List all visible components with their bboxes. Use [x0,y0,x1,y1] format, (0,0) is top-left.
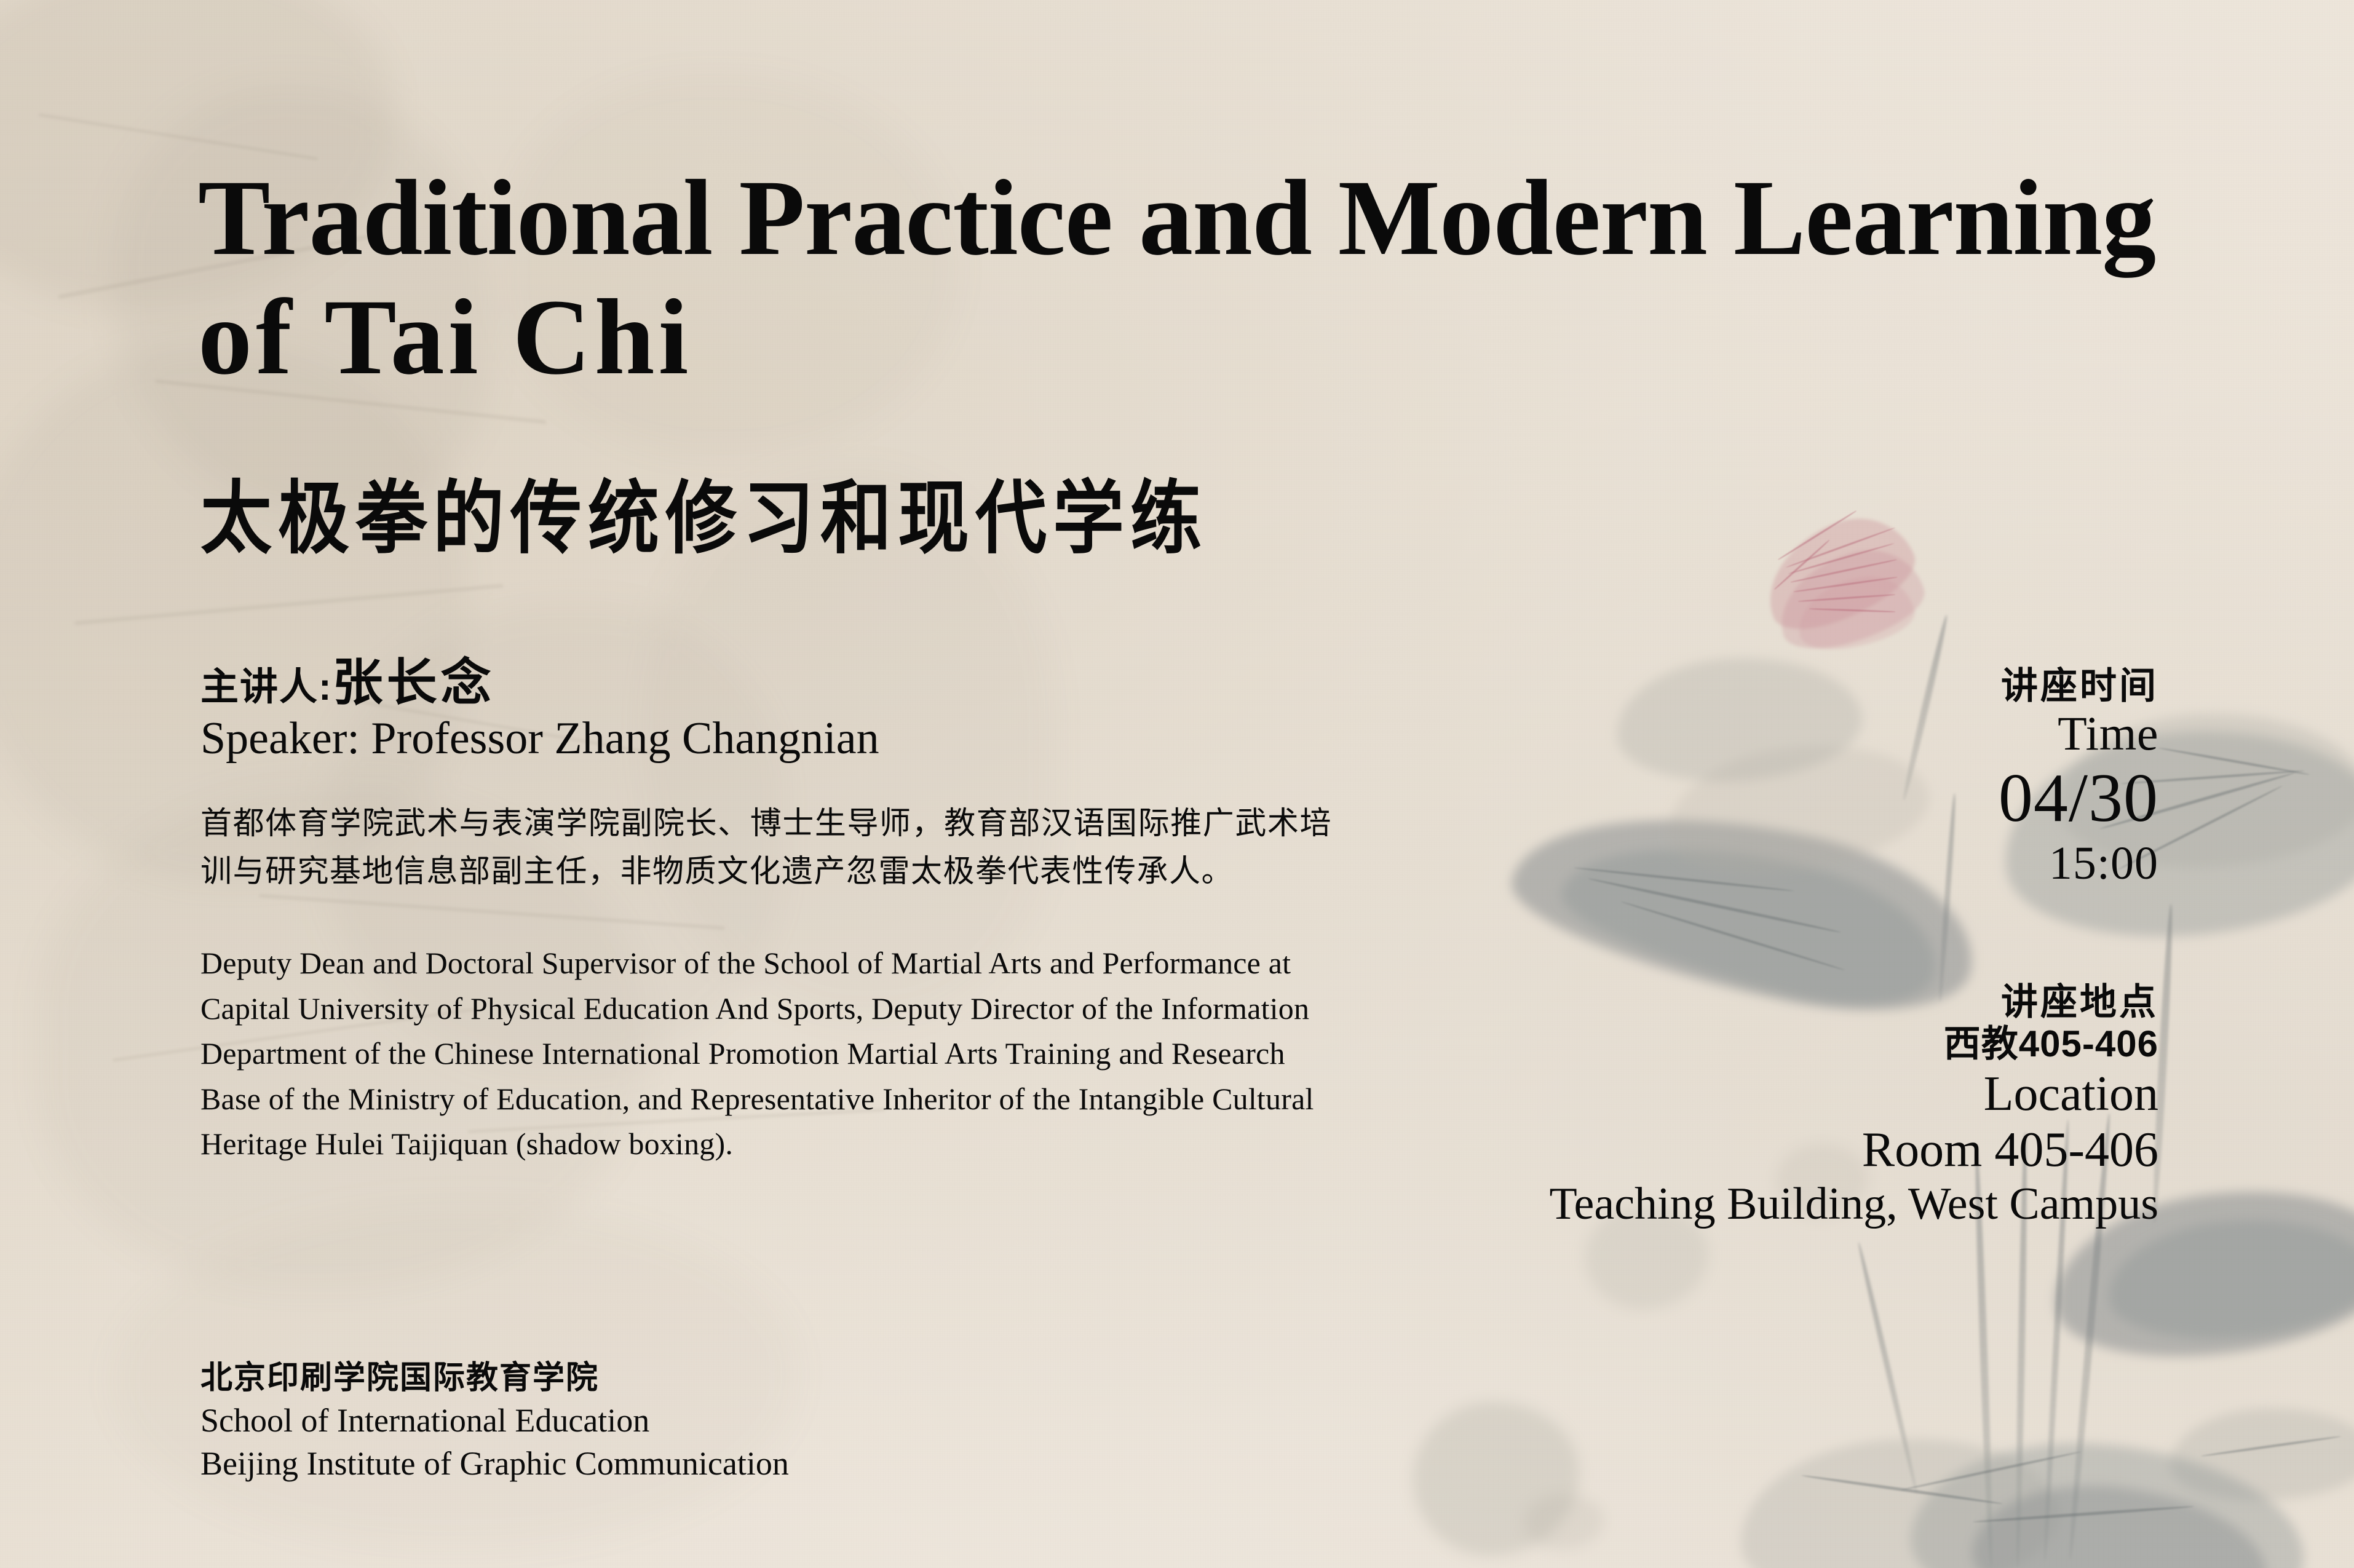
poster-title: Traditional Practice and Modern Learning… [198,159,2154,397]
organization-name-english-2: Beijing Institute of Graphic Communicati… [200,1442,1123,1485]
title-line-1: Traditional Practice and Modern Learning [198,159,2154,278]
location-label-english: Location [1175,1066,2158,1122]
organization-name-chinese: 北京印刷学院国际教育学院 [200,1358,1123,1399]
location-building-english: Teaching Building, West Campus [1175,1178,2158,1230]
speaker-block: 主讲人:张长念 Speaker: Professor Zhang Changni… [200,657,1369,766]
speaker-name-chinese: 主讲人:张长念 [200,657,1369,710]
organization-block: 北京印刷学院国际教育学院 School of International Edu… [200,1358,1123,1485]
speaker-bio-chinese: 首都体育学院武术与表演学院副院长、博士生导师，教育部汉语国际推广武术培训与研究基… [200,799,1332,895]
lecture-date: 04/30 [1421,761,2158,836]
speaker-bio-english: Deputy Dean and Doctoral Supervisor of t… [200,941,1332,1167]
location-room-chinese: 西教405-406 [1175,1023,2158,1066]
lecture-poster: Traditional Practice and Modern Learning… [0,0,2354,1568]
time-label-english: Time [1421,707,2158,760]
location-label-chinese: 讲座地点 [1175,981,2158,1023]
speaker-name-english: Speaker: Professor Zhang Changnian [200,712,1369,766]
speaker-label-chinese: 主讲人: [200,666,333,708]
organization-name-english-1: School of International Education [200,1399,1123,1442]
speaker-name-value-chinese: 张长念 [333,655,495,711]
lecture-location-block: 讲座地点 西教405-406 Location Room 405-406 Tea… [1175,981,2158,1230]
lecture-time-block: 讲座时间 Time 04/30 15:00 [1421,665,2158,890]
title-subtitle-chinese: 太极拳的传统修习和现代学练 [200,478,1208,558]
location-room-english: Room 405-406 [1175,1122,2158,1178]
location-room-chinese-text: 西教405-406 [1944,1023,2158,1064]
title-line-2: of Tai Chi [198,278,2154,397]
time-label-chinese: 讲座时间 [1421,665,2158,707]
lecture-time: 15:00 [1421,836,2158,890]
